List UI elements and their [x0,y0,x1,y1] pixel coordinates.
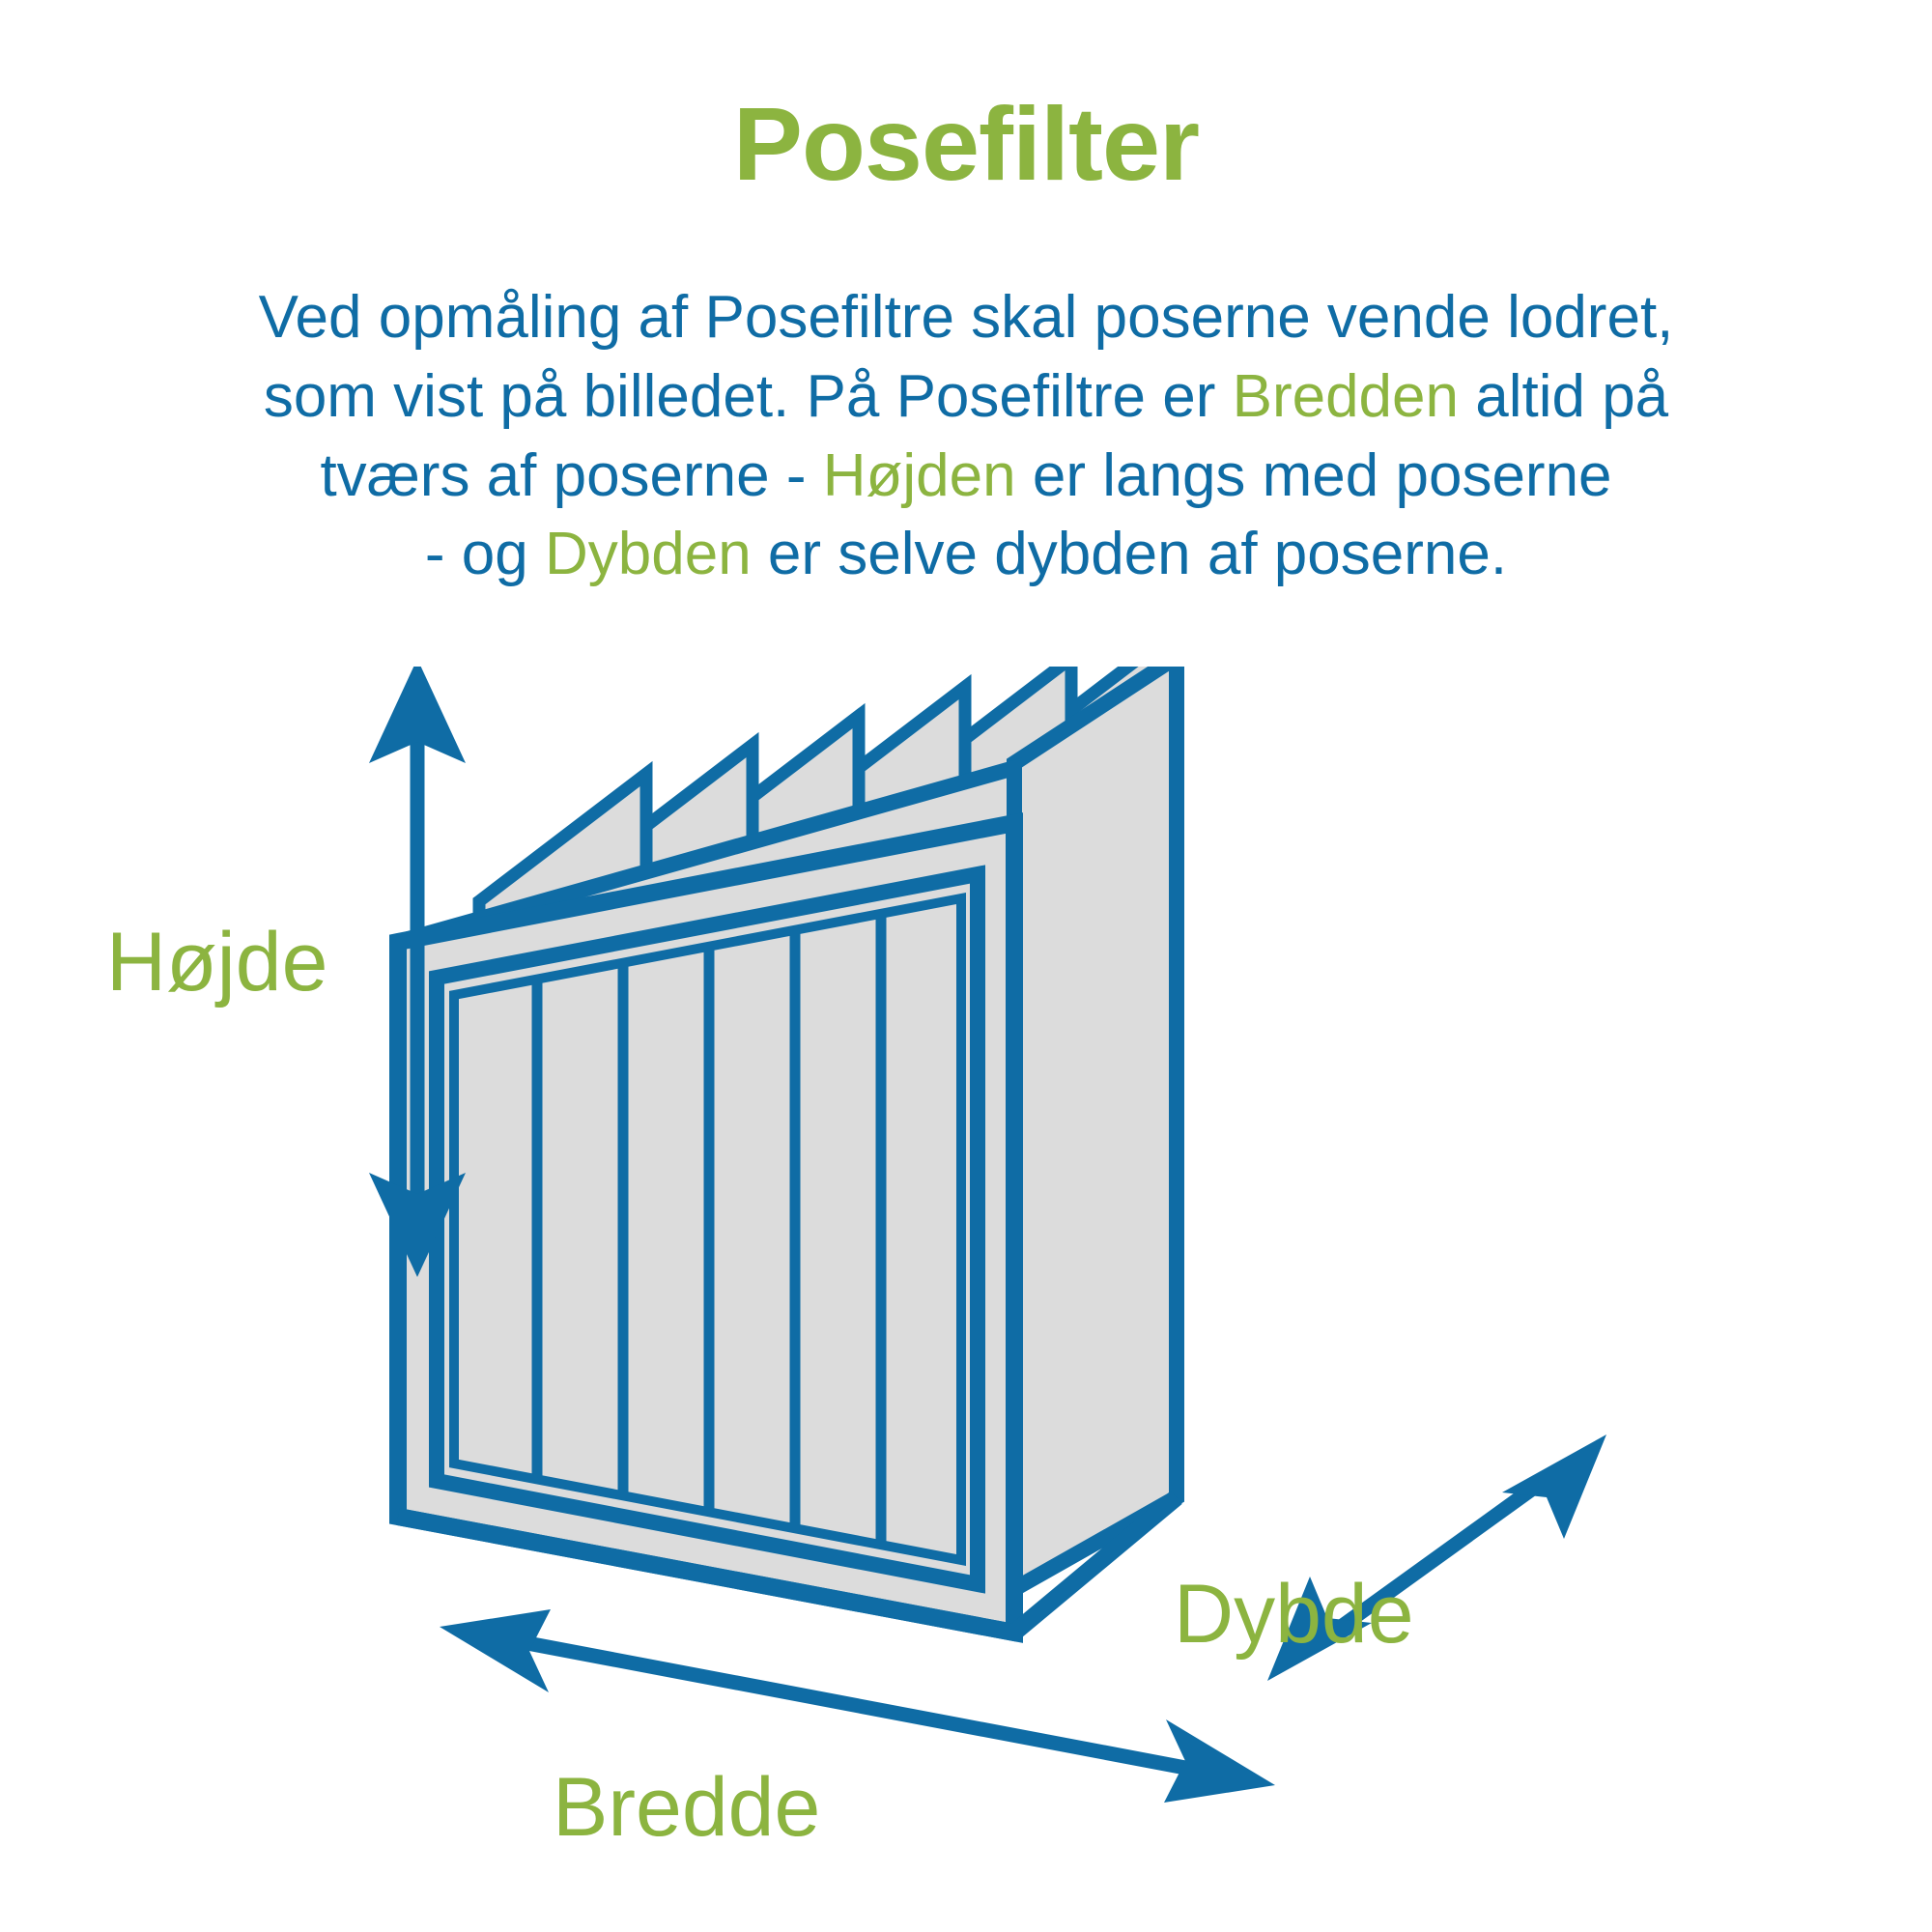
intro-line-1-text: Ved opmåling af Posefiltre skal poserne … [259,284,1674,351]
intro-highlight-bredden: Bredden [1233,363,1459,430]
intro-highlight-hojden: Højden [823,442,1016,509]
intro-highlight-dybden: Dybden [545,521,752,587]
label-width: Bredde [553,1761,820,1854]
intro-line-4-text-b: er selve dybden af poserne. [752,521,1507,587]
intro-line-3-text-a: tværs af poserne - [320,442,822,509]
poster-root: Posefilter Ved opmåling af Posefiltre sk… [0,0,1932,1932]
label-height: Højde [106,916,327,1009]
intro-line-4-text-a: - og [425,521,545,587]
intro-paragraph: Ved opmåling af Posefiltre skal poserne … [68,278,1864,594]
label-depth: Dybde [1174,1568,1414,1661]
filter-diagram: Højde Bredde Dybde [0,667,1932,1932]
intro-line-2-text-b: altid på [1459,363,1668,430]
page-title: Posefilter [0,89,1932,198]
filter-right-side-panel [1014,667,1177,1589]
intro-line-2-text-a: som vist på billedet. På Posefiltre er [264,363,1233,430]
intro-line-3-text-b: er langs med poserne [1016,442,1612,509]
